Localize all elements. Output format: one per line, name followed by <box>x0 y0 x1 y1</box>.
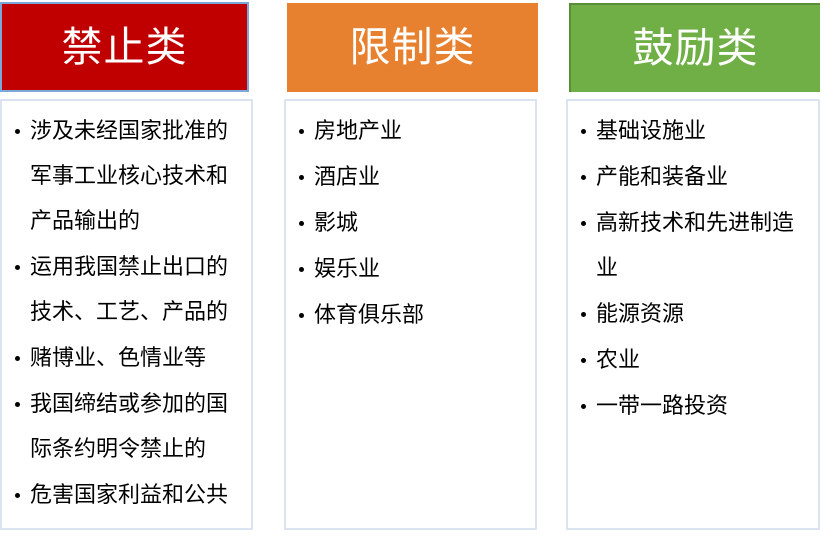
card-header-prohibited[interactable]: 禁止类 <box>2 3 247 92</box>
bullet-list-encouraged: 基础设施业 产能和装备业 高新技术和先进制造业 能源资源 农业 一带一路投资 <box>568 101 818 429</box>
card-body-prohibited: 涉及未经国家批准的军事工业核心技术和产品输出的 运用我国禁止出口的技术、工艺、产… <box>0 99 253 530</box>
list-item: 影城 <box>292 201 529 246</box>
list-item: 体育俱乐部 <box>292 293 529 338</box>
list-item: 赌博业、色情业等 <box>8 336 245 381</box>
card-title-encouraged: 鼓励类 <box>633 28 759 69</box>
list-item: 运用我国禁止出口的技术、工艺、产品的 <box>8 245 245 335</box>
list-item: 我国缔结或参加的国际条约明令禁止的 <box>8 382 245 472</box>
card-body-encouraged: 基础设施业 产能和装备业 高新技术和先进制造业 能源资源 农业 一带一路投资 <box>566 99 820 530</box>
category-card-encouraged[interactable]: 鼓励类 基础设施业 产能和装备业 高新技术和先进制造业 能源资源 农业 一带一路… <box>566 0 820 536</box>
card-body-restricted: 房地产业 酒店业 影城 娱乐业 体育俱乐部 <box>284 99 537 530</box>
list-item: 娱乐业 <box>292 247 529 292</box>
card-header-encouraged[interactable]: 鼓励类 <box>569 3 820 92</box>
bullet-list-restricted: 房地产业 酒店业 影城 娱乐业 体育俱乐部 <box>286 101 535 338</box>
list-item: 能源资源 <box>574 292 812 337</box>
list-item: 酒店业 <box>292 155 529 200</box>
slide-canvas: 禁止类 涉及未经国家批准的军事工业核心技术和产品输出的 运用我国禁止出口的技术、… <box>0 0 824 536</box>
list-item: 一带一路投资 <box>574 384 812 429</box>
category-card-restricted[interactable]: 限制类 房地产业 酒店业 影城 娱乐业 体育俱乐部 <box>284 0 537 536</box>
card-title-restricted: 限制类 <box>350 27 476 68</box>
card-header-restricted[interactable]: 限制类 <box>287 3 538 92</box>
list-item: 危害国家利益和公共安全的 <box>8 473 245 530</box>
list-item: 基础设施业 <box>574 109 812 154</box>
category-card-prohibited[interactable]: 禁止类 涉及未经国家批准的军事工业核心技术和产品输出的 运用我国禁止出口的技术、… <box>0 0 253 536</box>
list-item: 农业 <box>574 338 812 383</box>
card-title-prohibited: 禁止类 <box>62 27 188 68</box>
list-item: 产能和装备业 <box>574 155 812 200</box>
list-item: 房地产业 <box>292 109 529 154</box>
list-item: 涉及未经国家批准的军事工业核心技术和产品输出的 <box>8 109 245 244</box>
bullet-list-prohibited: 涉及未经国家批准的军事工业核心技术和产品输出的 运用我国禁止出口的技术、工艺、产… <box>2 101 251 530</box>
list-item: 高新技术和先进制造业 <box>574 201 812 291</box>
